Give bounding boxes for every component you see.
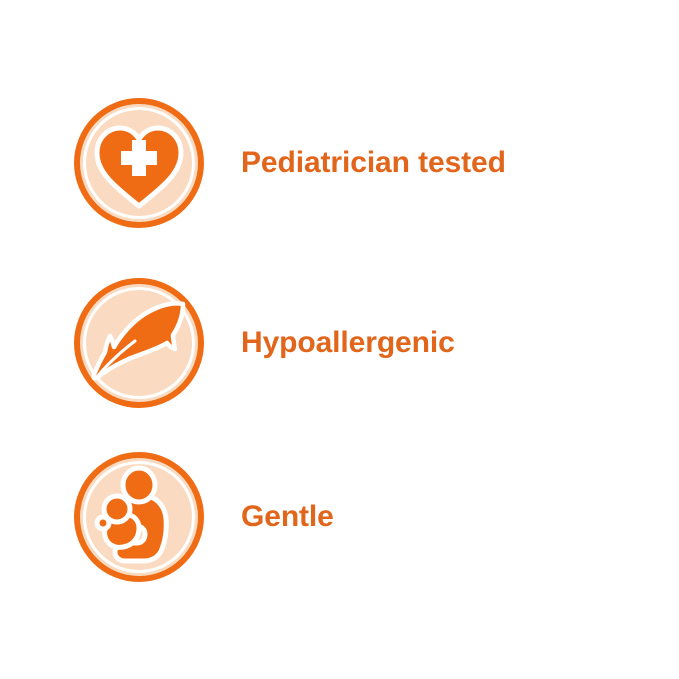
mother-holding-baby-icon [69,447,209,587]
heart-with-medical-cross-icon [69,93,209,233]
badge-label: Pediatrician tested [241,93,506,233]
badge-label: Hypoallergenic [241,273,455,413]
badge-label: Gentle [241,447,334,587]
feather-icon [69,273,209,413]
badge-item: Pediatrician tested [0,93,679,233]
badge-list: Pediatrician tested Hypoallergenic [0,0,679,679]
badge-item: Gentle [0,447,679,587]
badge-item: Hypoallergenic [0,273,679,413]
